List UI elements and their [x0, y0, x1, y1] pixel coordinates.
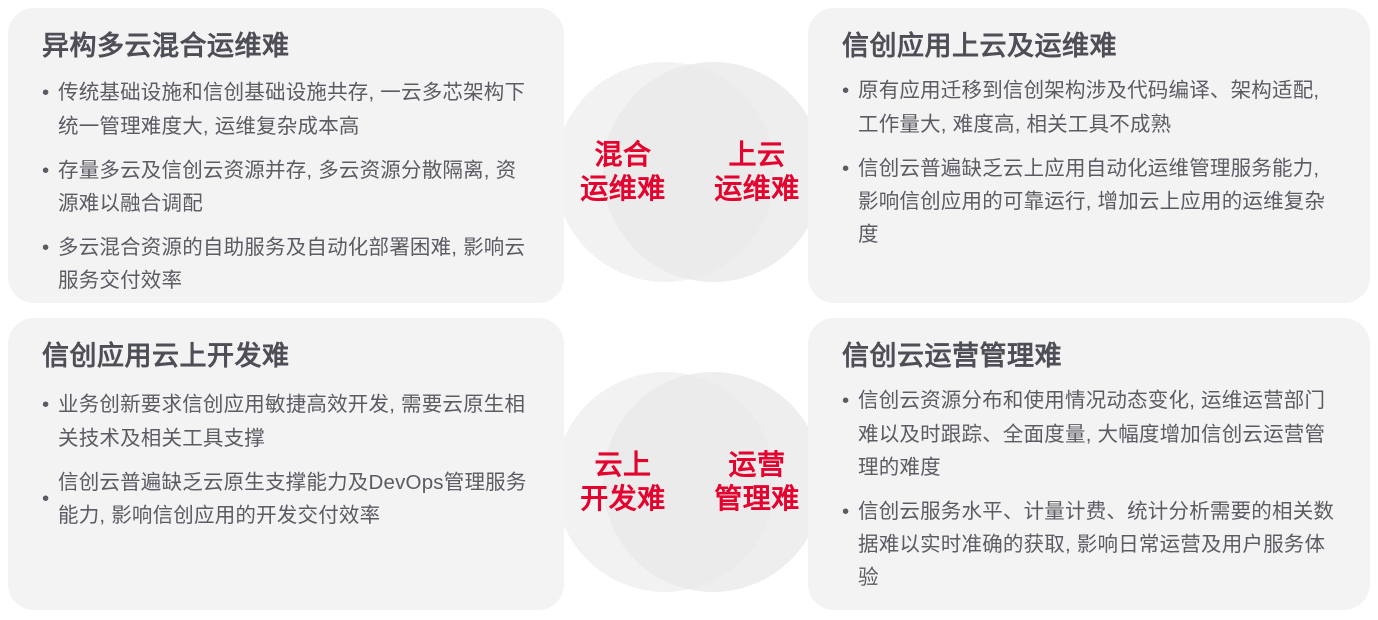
card-title: 异构多云混合运维难: [42, 30, 530, 62]
list-item-text: 存量多云及信创云资源并存, 多云资源分散隔离, 资源难以融合调配: [58, 154, 530, 220]
list-item: • 存量多云及信创云资源并存, 多云资源分散隔离, 资源难以融合调配: [42, 154, 530, 220]
bullet-dot-icon: •: [42, 76, 58, 109]
card-app-to-cloud-ops: 信创应用上云及运维难 • 原有应用迁移到信创架构涉及代码编译、架构适配, 工作量…: [808, 8, 1370, 303]
venn-diagram-top: 混合 运维难 上云 运维难: [555, 62, 823, 282]
list-item: • 多云混合资源的自助服务及自动化部署困难, 影响云服务交付效率: [42, 231, 530, 297]
venn-label-left-line1: 云上: [561, 448, 685, 482]
venn-diagram-bottom: 云上 开发难 运营 管理难: [555, 372, 823, 592]
list-item-text: 信创云普遍缺乏云原生支撑能力及DevOps管理服务能力, 影响信创应用的开发交付…: [58, 466, 530, 532]
bullet-list: • 业务创新要求信创应用敏捷高效开发, 需要云原生相关技术及相关工具支撑 • 信…: [42, 388, 530, 532]
venn-label-right-line2: 运维难: [695, 172, 819, 206]
venn-label-left-line2: 开发难: [561, 482, 685, 516]
card-heterogeneous-multicloud-ops: 异构多云混合运维难 • 传统基础设施和信创基础设施共存, 一云多芯架构下统一管理…: [8, 8, 564, 303]
card-title: 信创云运营管理难: [842, 340, 1336, 372]
list-item-text: 信创云资源分布和使用情况动态变化, 运维运营部门难以及时跟踪、全面度量, 大幅度…: [858, 384, 1336, 484]
bullet-dot-icon: •: [842, 74, 858, 107]
venn-label-left-line1: 混合: [561, 138, 685, 172]
venn-label-left: 混合 运维难: [561, 138, 685, 206]
venn-label-right-line1: 运营: [695, 448, 819, 482]
bullet-dot-icon: •: [42, 154, 58, 187]
list-item: • 信创云资源分布和使用情况动态变化, 运维运营部门难以及时跟踪、全面度量, 大…: [842, 384, 1336, 484]
list-item-text: 业务创新要求信创应用敏捷高效开发, 需要云原生相关技术及相关工具支撑: [58, 388, 530, 454]
bullet-dot-icon: •: [42, 388, 58, 421]
bullet-dot-icon: •: [842, 384, 858, 417]
list-item-text: 信创云服务水平、计量计费、统计分析需要的相关数据难以实时准确的获取, 影响日常运…: [858, 495, 1336, 595]
list-item: • 原有应用迁移到信创架构涉及代码编译、架构适配, 工作量大, 难度高, 相关工…: [842, 74, 1336, 140]
bullet-list: • 信创云资源分布和使用情况动态变化, 运维运营部门难以及时跟踪、全面度量, 大…: [842, 384, 1336, 594]
bullet-dot-icon: •: [842, 495, 858, 528]
list-item-text: 多云混合资源的自助服务及自动化部署困难, 影响云服务交付效率: [58, 231, 530, 297]
venn-label-left: 云上 开发难: [561, 448, 685, 516]
bullet-dot-icon: •: [842, 152, 858, 185]
bullet-list: • 传统基础设施和信创基础设施共存, 一云多芯架构下统一管理难度大, 运维复杂成…: [42, 76, 530, 297]
bullet-dot-icon: •: [42, 231, 58, 264]
list-item-text: 原有应用迁移到信创架构涉及代码编译、架构适配, 工作量大, 难度高, 相关工具不…: [858, 74, 1336, 140]
card-title: 信创应用云上开发难: [42, 340, 530, 372]
bullet-list: • 原有应用迁移到信创架构涉及代码编译、架构适配, 工作量大, 难度高, 相关工…: [842, 74, 1336, 251]
card-cloud-operations-management: 信创云运营管理难 • 信创云资源分布和使用情况动态变化, 运维运营部门难以及时跟…: [808, 318, 1370, 610]
card-app-cloud-development: 信创应用云上开发难 • 业务创新要求信创应用敏捷高效开发, 需要云原生相关技术及…: [8, 318, 564, 610]
card-title: 信创应用上云及运维难: [842, 30, 1336, 62]
venn-label-right-line2: 管理难: [695, 482, 819, 516]
list-item-text: 传统基础设施和信创基础设施共存, 一云多芯架构下统一管理难度大, 运维复杂成本高: [58, 76, 530, 142]
list-item: • 信创云普遍缺乏云原生支撑能力及DevOps管理服务能力, 影响信创应用的开发…: [42, 466, 530, 532]
venn-label-left-line2: 运维难: [561, 172, 685, 206]
list-item: • 传统基础设施和信创基础设施共存, 一云多芯架构下统一管理难度大, 运维复杂成…: [42, 76, 530, 142]
venn-label-right-line1: 上云: [695, 138, 819, 172]
list-item: • 业务创新要求信创应用敏捷高效开发, 需要云原生相关技术及相关工具支撑: [42, 388, 530, 454]
venn-label-right: 运营 管理难: [695, 448, 819, 516]
list-item: • 信创云服务水平、计量计费、统计分析需要的相关数据难以实时准确的获取, 影响日…: [842, 495, 1336, 595]
venn-label-right: 上云 运维难: [695, 138, 819, 206]
bullet-dot-icon: •: [42, 482, 58, 515]
infographic-board: 异构多云混合运维难 • 传统基础设施和信创基础设施共存, 一云多芯架构下统一管理…: [0, 0, 1378, 620]
list-item-text: 信创云普遍缺乏云上应用自动化运维管理服务能力, 影响信创应用的可靠运行, 增加云…: [858, 152, 1336, 252]
list-item: • 信创云普遍缺乏云上应用自动化运维管理服务能力, 影响信创应用的可靠运行, 增…: [842, 152, 1336, 252]
